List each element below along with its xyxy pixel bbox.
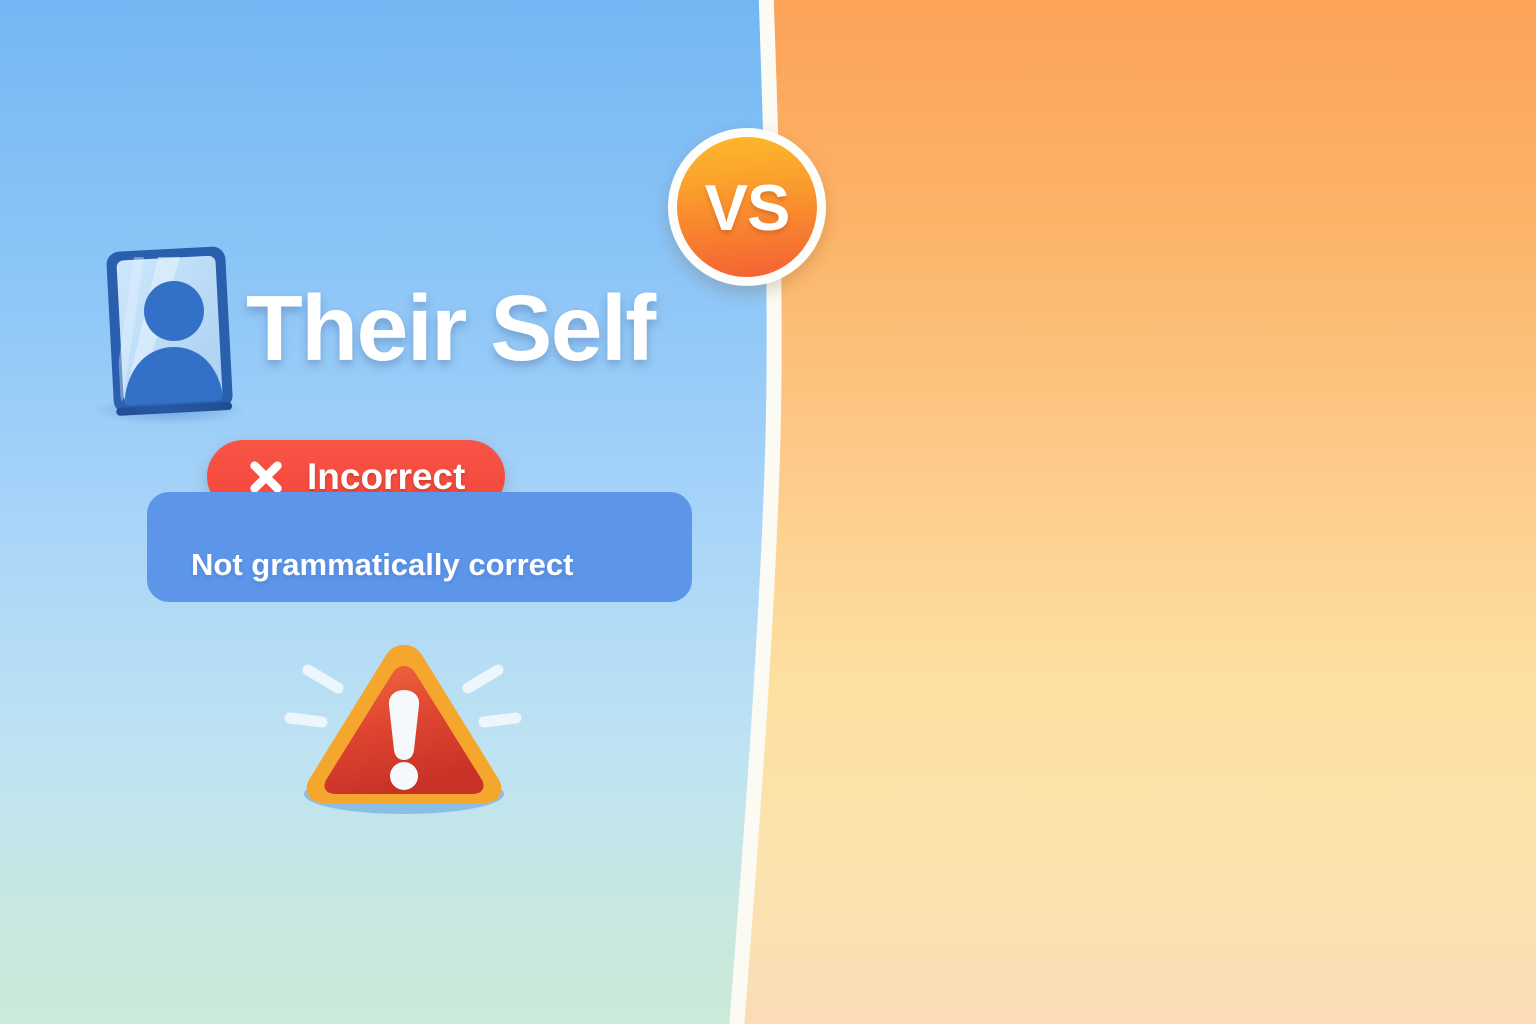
vs-badge: VS [668,128,826,286]
left-panel: Their Self Incorrect Not grammatically c… [0,0,760,1024]
right-panel: Themselves Correct Proper reflexive pron… [776,0,1536,1024]
vs-badge-label: VS [705,175,790,240]
left-description-panel: Not grammatically correct [147,492,692,602]
x-mark-icon [247,458,285,496]
incorrect-badge-label: Incorrect [307,458,465,495]
comparison-graphic: Their Self Incorrect Not grammatically c… [0,0,1536,1024]
warning-triangle-icon [272,622,532,822]
left-description-text: Not grammatically correct [191,549,573,580]
left-heading: Their Self [246,282,655,375]
mirror-shadow [94,395,244,425]
mirror-person-icon [100,243,250,428]
